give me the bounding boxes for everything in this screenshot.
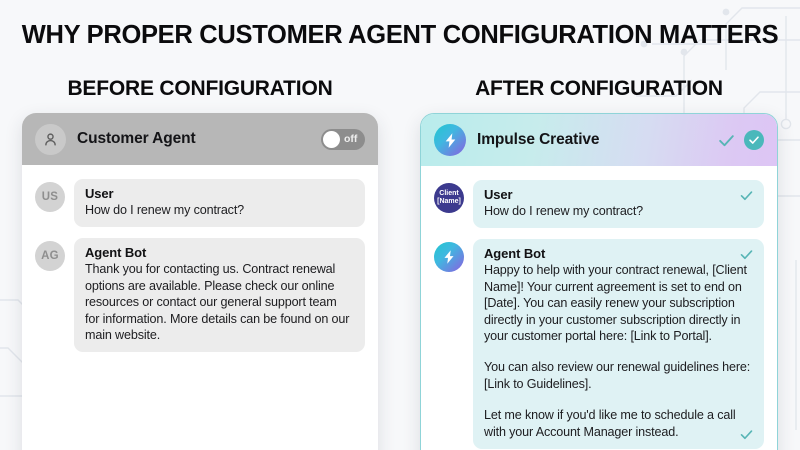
before-configuration-card: Customer Agent off US User How do I rene… xyxy=(22,113,378,450)
message-text: Let me know if you'd like me to schedule… xyxy=(484,407,753,440)
before-card-title: Customer Agent xyxy=(77,130,310,148)
check-icon xyxy=(739,247,754,262)
header-status-checks xyxy=(717,130,764,150)
lightning-bolt-icon xyxy=(434,124,466,156)
after-column-title: AFTER CONFIGURATION xyxy=(420,77,778,101)
check-icon xyxy=(739,427,754,442)
after-message-list: Client [Name] User How do I renew my con… xyxy=(421,166,777,449)
message-sender-name: User xyxy=(85,186,354,201)
lightning-bolt-icon xyxy=(441,249,457,265)
page-title: WHY PROPER CUSTOMER AGENT CONFIGURATION … xyxy=(0,21,800,50)
agent-enable-toggle[interactable]: off xyxy=(321,129,365,150)
message-bubble: User How do I renew my contract? xyxy=(74,179,365,227)
toggle-knob xyxy=(323,131,340,148)
avatar xyxy=(434,242,464,272)
avatar-line-2: [Name] xyxy=(437,198,461,207)
message-bubble: Agent Bot Happy to help with your contra… xyxy=(473,239,764,449)
message-row: US User How do I renew my contract? xyxy=(35,179,365,227)
after-configuration-card: Impulse Creative Client [Name] User xyxy=(420,113,778,450)
message-row: Client [Name] User How do I renew my con… xyxy=(434,180,764,228)
message-sender-name: Agent Bot xyxy=(85,245,354,260)
message-row: AG Agent Bot Thank you for contacting us… xyxy=(35,238,365,352)
avatar: Client [Name] xyxy=(434,183,464,213)
avatar: AG xyxy=(35,241,65,271)
avatar-line-1: Client xyxy=(437,190,461,199)
check-icon xyxy=(717,131,736,150)
message-bubble: User How do I renew my contract? xyxy=(473,180,764,228)
check-icon xyxy=(739,188,754,203)
toggle-label: off xyxy=(344,133,357,145)
message-text: You can also review our renewal guidelin… xyxy=(484,359,753,392)
message-bubble: Agent Bot Thank you for contacting us. C… xyxy=(74,238,365,352)
message-text: Thank you for contacting us. Contract re… xyxy=(85,261,354,343)
message-text: How do I renew my contract? xyxy=(85,202,354,218)
message-sender-name: User xyxy=(484,187,753,202)
avatar: US xyxy=(35,182,65,212)
message-text: Happy to help with your contract renewal… xyxy=(484,262,753,344)
before-card-header: Customer Agent off xyxy=(22,113,378,165)
before-column-title: BEFORE CONFIGURATION xyxy=(22,77,378,101)
message-row: Agent Bot Happy to help with your contra… xyxy=(434,239,764,449)
check-circle-filled-icon xyxy=(744,130,764,150)
message-sender-name: Agent Bot xyxy=(484,246,753,261)
after-card-header: Impulse Creative xyxy=(421,114,777,166)
after-card-title: Impulse Creative xyxy=(477,131,706,149)
before-message-list: US User How do I renew my contract? AG A… xyxy=(22,165,378,352)
message-text: How do I renew my contract? xyxy=(484,203,753,219)
person-icon xyxy=(35,124,66,155)
